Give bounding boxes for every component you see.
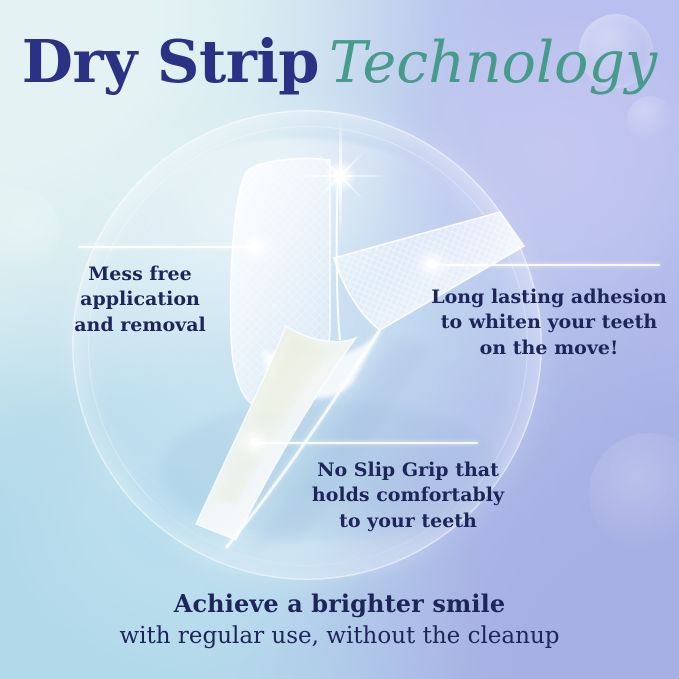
callout-line: Long lasting adhesion bbox=[425, 285, 673, 310]
leader-line-no-slip-grip bbox=[258, 442, 478, 444]
tagline-headline: Achieve a brighter smile bbox=[0, 590, 679, 619]
callout-line: holds comfortably bbox=[288, 483, 528, 508]
leader-line-long-lasting bbox=[436, 264, 660, 266]
callout-line: No Slip Grip that bbox=[288, 458, 528, 483]
title-secondary: Technology bbox=[329, 30, 657, 96]
leader-dot-no-slip-grip bbox=[250, 438, 259, 447]
leader-dot-mess-free bbox=[252, 242, 261, 251]
callout-long-lasting: Long lasting adhesion to whiten your tee… bbox=[425, 285, 673, 361]
callout-line: to whiten your teeth bbox=[425, 310, 673, 335]
page-title: Dry StripTechnology bbox=[0, 32, 679, 92]
infographic-canvas: Dry StripTechnology Mess free applicatio… bbox=[0, 0, 679, 679]
callout-line: and removal bbox=[40, 313, 240, 338]
title-primary: Dry Strip bbox=[22, 27, 319, 96]
leader-line-mess-free bbox=[78, 246, 256, 248]
tagline-subline: with regular use, without the cleanup bbox=[0, 622, 679, 651]
footer-tagline: Achieve a brighter smile with regular us… bbox=[0, 590, 679, 651]
callout-line: to your teeth bbox=[288, 509, 528, 534]
callout-line: application bbox=[40, 287, 240, 312]
callout-no-slip-grip: No Slip Grip that holds comfortably to y… bbox=[288, 458, 528, 534]
callout-line: Mess free bbox=[40, 262, 240, 287]
callout-mess-free: Mess free application and removal bbox=[40, 262, 240, 338]
leader-dot-long-lasting bbox=[427, 260, 436, 269]
callout-line: on the move! bbox=[425, 336, 673, 361]
